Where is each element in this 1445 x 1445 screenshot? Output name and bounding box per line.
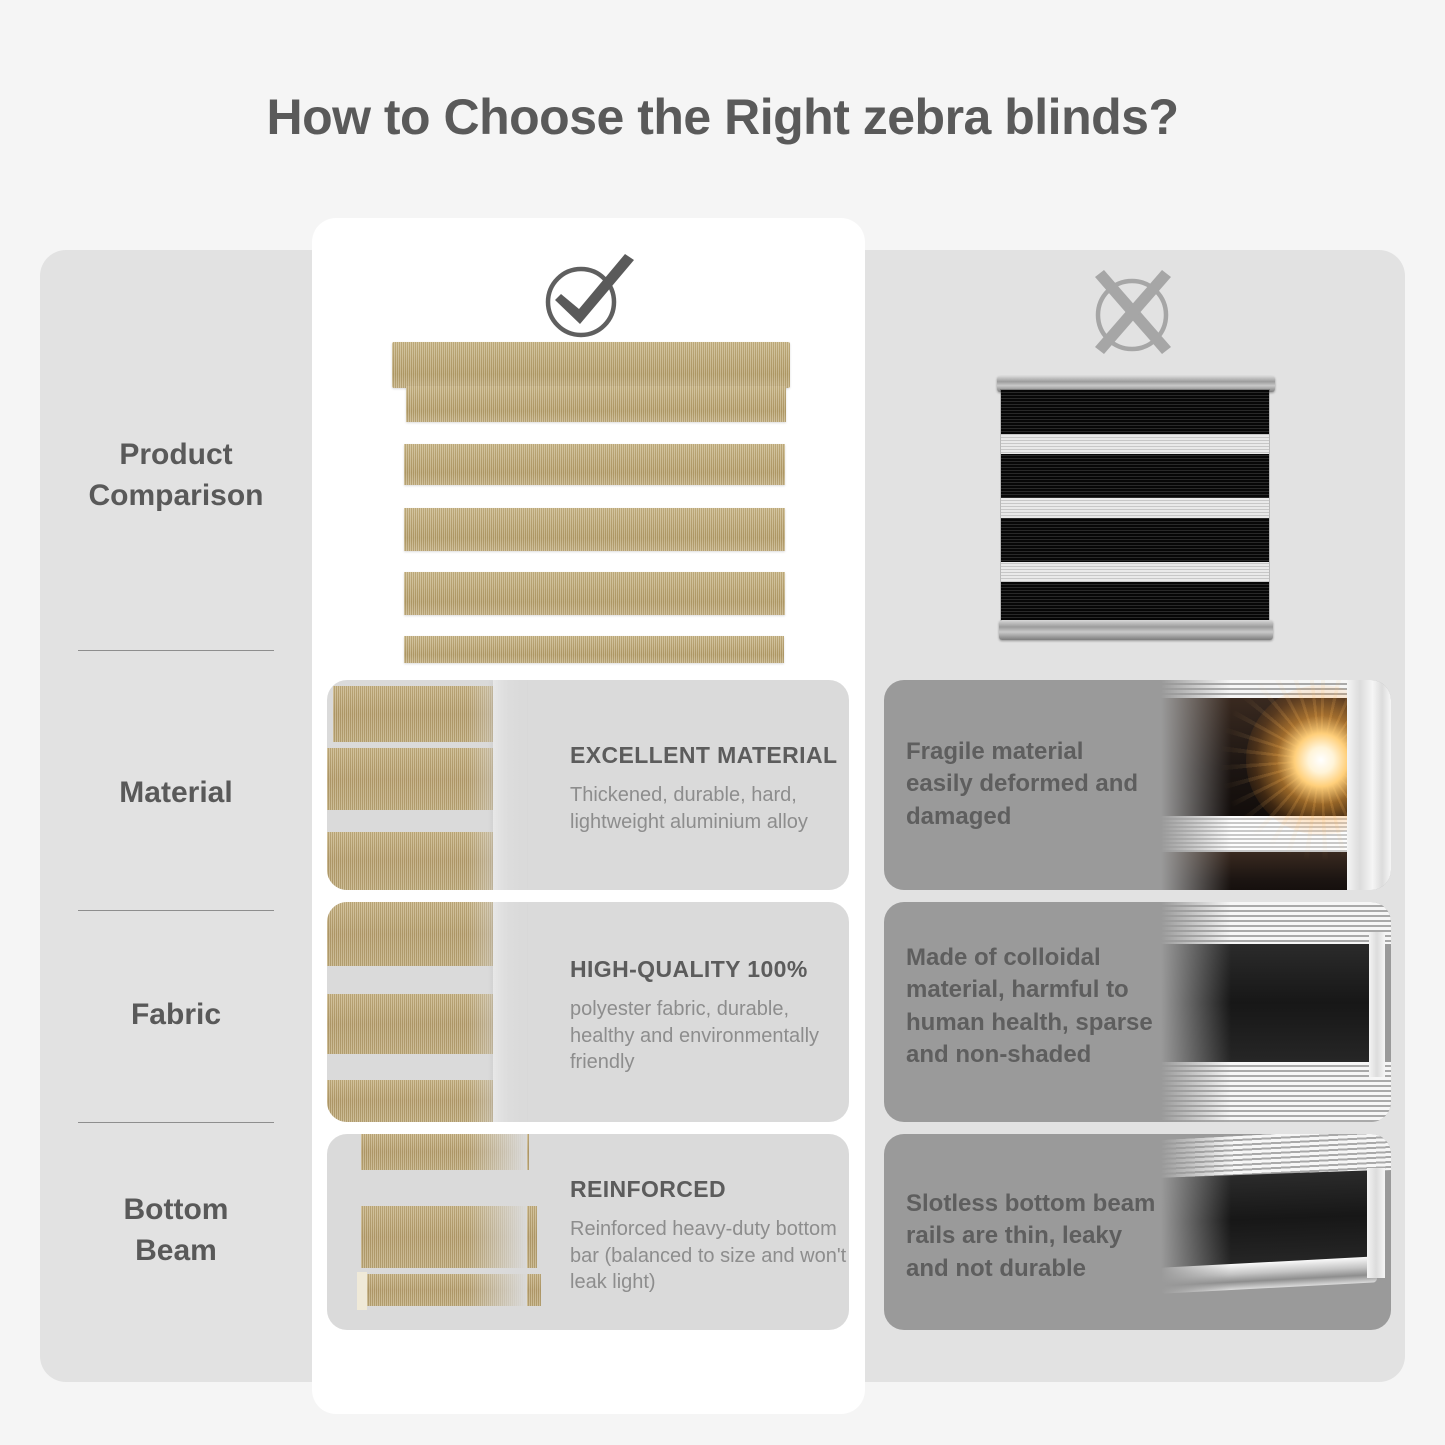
row-label-column: Product Comparison Material Fabric Botto…: [40, 250, 312, 1382]
feature-body: Made of colloidal material, harmful to h…: [906, 942, 1166, 1072]
feature-card-good-bottom-beam: REINFORCED Reinforced heavy-duty bottom …: [327, 1134, 849, 1330]
row-label-line-1: Bottom: [40, 1190, 312, 1231]
feature-image-good-bottom-beam: [327, 1134, 527, 1330]
row-label-line-1: Material: [40, 773, 312, 814]
row-label-line-2: Comparison: [40, 476, 312, 517]
row-label-product-comparison: Product Comparison: [40, 435, 312, 516]
row-label-line-2: Beam: [40, 1231, 312, 1272]
blind-headrail: [392, 342, 790, 388]
feature-body: Reinforced heavy-duty bottom bar (balanc…: [570, 1216, 849, 1296]
feature-body: Slotless bottom beam rails are thin, lea…: [906, 1188, 1156, 1285]
page-title: How to Choose the Right zebra blinds?: [0, 88, 1445, 146]
row-label-line-1: Fabric: [40, 995, 312, 1036]
cross-circle-icon: [1082, 265, 1182, 363]
good-product-hero-image: [382, 340, 800, 670]
feature-body: Thickened, durable, hard, lightweight al…: [570, 782, 840, 835]
check-circle-icon: [533, 252, 643, 344]
feature-card-good-fabric: HIGH-QUALITY 100% polyester fabric, dura…: [327, 902, 849, 1122]
feature-card-bad-material: Fragile material easily deformed and dam…: [884, 680, 1391, 890]
row-divider-1: [78, 650, 274, 651]
feature-card-good-material: EXCELLENT MATERIAL Thickened, durable, h…: [327, 680, 849, 890]
feature-headline: REINFORCED: [570, 1176, 849, 1203]
feature-image-bad-material: [1161, 680, 1391, 890]
row-label-bottom-beam: Bottom Beam: [40, 1190, 312, 1271]
feature-image-good-material: [327, 680, 527, 890]
blind-slat: [404, 508, 785, 551]
feature-body: Fragile material easily deformed and dam…: [906, 736, 1156, 833]
blind-bottom-bar: [999, 620, 1273, 640]
blind-slat: [406, 386, 786, 422]
row-divider-2: [78, 910, 274, 911]
feature-image-good-fabric: [327, 902, 527, 1122]
row-label-fabric: Fabric: [40, 995, 312, 1036]
blind-bottom-bar: [404, 636, 784, 663]
feature-headline: HIGH-QUALITY 100%: [570, 956, 845, 983]
feature-image-bad-fabric: [1161, 902, 1391, 1122]
row-label-line-1: Product: [40, 435, 312, 476]
feature-image-bad-bottom-beam: [1161, 1134, 1391, 1330]
bad-product-hero-image: [973, 368, 1286, 648]
feature-card-bad-fabric: Made of colloidal material, harmful to h…: [884, 902, 1391, 1122]
blind-slat: [404, 572, 785, 615]
row-label-material: Material: [40, 773, 312, 814]
feature-headline: EXCELLENT MATERIAL: [570, 742, 840, 769]
row-divider-3: [78, 1122, 274, 1123]
feature-card-bad-bottom-beam: Slotless bottom beam rails are thin, lea…: [884, 1134, 1391, 1330]
blind-mesh-overlay: [1001, 390, 1269, 622]
feature-body: polyester fabric, durable, healthy and e…: [570, 996, 845, 1076]
blind-slat: [404, 444, 785, 485]
